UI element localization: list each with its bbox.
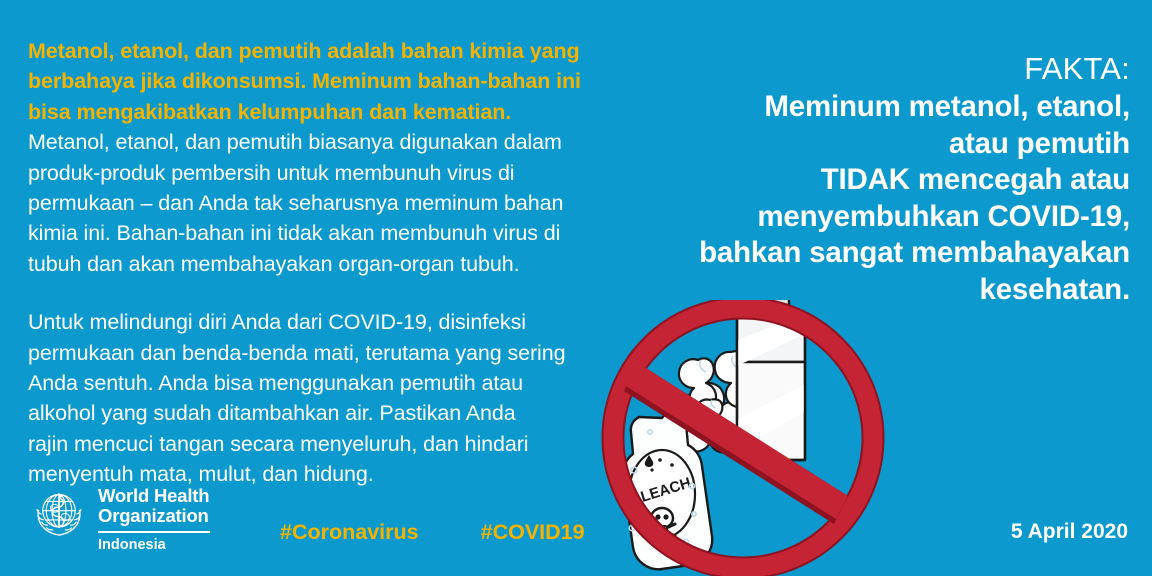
headline-line: menyembuhkan COVID-19, [660, 199, 1130, 236]
body-line: kimia ini. Bahan-bahan ini tidak akan me… [28, 218, 668, 248]
body-line: tubuh dan akan membahayakan organ-organ … [28, 249, 668, 279]
headline-line: atau pemutih [660, 126, 1130, 163]
fakta-label: FAKTA: [660, 48, 1130, 89]
lead-line: berbahaya jika dikonsumsi. Meminum bahan… [28, 66, 668, 96]
body-paragraph-2: Untuk melindungi diri Anda dari COVID-19… [28, 307, 668, 489]
who-name-line-2: Organization [98, 506, 210, 526]
body-line: permukaan dan benda-benda mati, terutama… [28, 338, 668, 368]
hashtag-group: #Coronavirus #COVID19 [280, 519, 585, 545]
body-line: Anda sentuh. Anda bisa menggunakan pemut… [28, 368, 668, 398]
left-text-column: Metanol, etanol, dan pemutih adalah baha… [28, 36, 668, 490]
who-emblem-icon [30, 484, 88, 542]
who-name-line-1: World Health [98, 486, 210, 506]
who-logo: World Health Organization Indonesia [30, 484, 210, 553]
headline-text: Meminum metanol, etanol, atau pemutih TI… [660, 89, 1130, 308]
who-divider [98, 531, 210, 533]
paragraph-spacer [28, 279, 668, 307]
who-country-label: Indonesia [98, 537, 210, 553]
lead-line: bisa mengakibatkan kelumpuhan dan kemati… [28, 97, 668, 127]
body-line: rajin mencuci tangan secara menyeluruh, … [28, 429, 668, 459]
body-paragraph-1: Metanol, etanol, dan pemutih biasanya di… [28, 127, 668, 279]
headline-line: kesehatan. [660, 272, 1130, 309]
headline-line: TIDAK mencegah atau [660, 162, 1130, 199]
body-line: Untuk melindungi diri Anda dari COVID-19… [28, 307, 668, 337]
lead-line: Metanol, etanol, dan pemutih adalah baha… [28, 36, 668, 66]
poster-canvas: Metanol, etanol, dan pemutih adalah baha… [0, 0, 1152, 576]
lead-paragraph: Metanol, etanol, dan pemutih adalah baha… [28, 36, 668, 127]
right-headline-column: FAKTA: Meminum metanol, etanol, atau pem… [660, 48, 1130, 308]
body-line: permukaan – dan Anda tak seharusnya memi… [28, 188, 668, 218]
hashtag-covid19[interactable]: #COVID19 [481, 519, 585, 545]
body-line: alkohol yang sudah ditambahkan air. Past… [28, 398, 668, 428]
headline-line: bahkan sangat membahayakan [660, 235, 1130, 272]
headline-line: Meminum metanol, etanol, [660, 89, 1130, 126]
who-wordmark: World Health Organization Indonesia [98, 484, 210, 553]
body-line: Metanol, etanol, dan pemutih biasanya di… [28, 127, 668, 157]
body-line: produk-produk pembersih untuk membunuh v… [28, 158, 668, 188]
hashtag-coronavirus[interactable]: #Coronavirus [280, 519, 419, 545]
date-stamp: 5 April 2020 [1011, 519, 1128, 545]
